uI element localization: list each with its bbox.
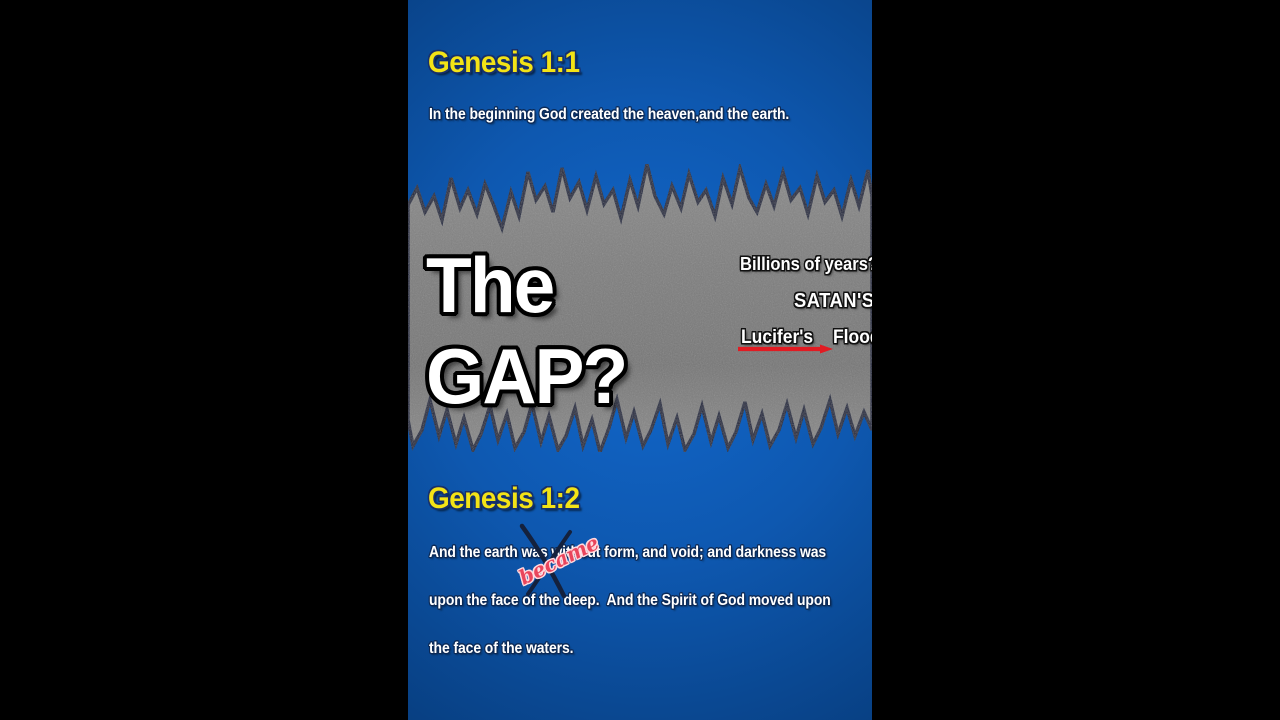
- genesis-1-2-line-2: upon the face of the deep. And the Spiri…: [429, 592, 831, 610]
- billions-of-years-label: Billions of years?: [740, 254, 872, 275]
- slide-content: Genesis 1:1 In the beginning God created…: [408, 0, 872, 720]
- genesis-1-1-heading: Genesis 1:1: [428, 46, 580, 80]
- flood-label: Flood?: [833, 327, 872, 349]
- letterbox-right: [872, 0, 1280, 720]
- strikethrough-arrow-icon: [738, 341, 834, 351]
- letterbox-left: [0, 0, 408, 720]
- genesis-1-2-line-1: And the earth was without form, and void…: [429, 544, 826, 562]
- gap-title: The GAP?: [426, 240, 714, 422]
- genesis-1-2-heading: Genesis 1:2: [428, 482, 580, 516]
- satans-label: SATAN'S: [794, 290, 872, 313]
- genesis-1-1-text: In the beginning God created the heaven,…: [429, 106, 789, 124]
- genesis-1-2-line-3: the face of the waters.: [429, 640, 573, 658]
- video-frame: Genesis 1:1 In the beginning God created…: [0, 0, 1280, 720]
- became-annotation: became: [508, 522, 618, 600]
